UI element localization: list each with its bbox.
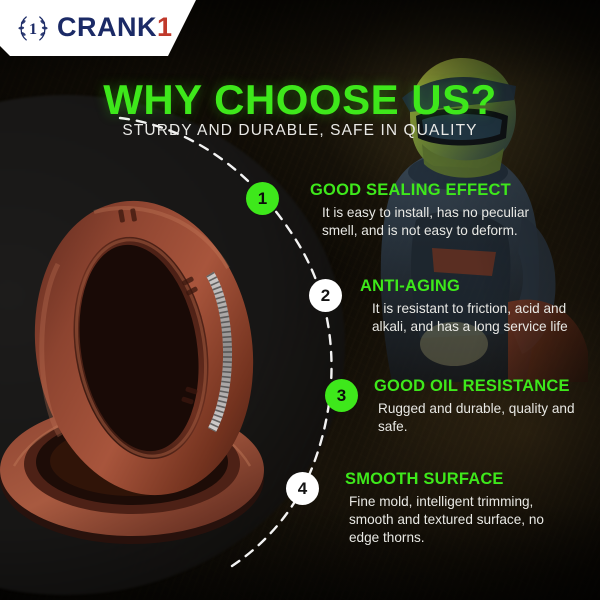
brand-logo-banner[interactable]: 1 CRANK1: [0, 0, 196, 56]
feature-number-4: 4: [298, 480, 307, 497]
page-title: WHY CHOOSE US?: [0, 76, 600, 124]
feature-body-3: Rugged and durable, quality and safe.: [374, 400, 589, 436]
brand-wordmark: CRANK1: [57, 14, 173, 41]
feature-badge-1: 1: [246, 182, 279, 215]
brand-name-main: CRANK: [57, 12, 157, 42]
feature-title-4: SMOOTH SURFACE: [345, 470, 575, 488]
brand-name-accent: 1: [157, 12, 173, 42]
feature-item-3: GOOD OIL RESISTANCE Rugged and durable, …: [374, 377, 589, 436]
laurel-wreath-icon: 1: [16, 11, 50, 45]
feature-title-1: GOOD SEALING EFFECT: [310, 181, 550, 199]
oil-seal-product-image: [0, 178, 286, 560]
feature-badge-3: 3: [325, 379, 358, 412]
feature-item-2: ANTI-AGING It is resistant to friction, …: [360, 277, 585, 336]
page-subtitle: STURDY AND DURABLE, SAFE IN QUALITY: [0, 122, 600, 140]
promo-infographic: 1 CRANK1 WHY CHOOSE US? STURDY AND DURAB…: [0, 0, 600, 600]
feature-title-3: GOOD OIL RESISTANCE: [374, 377, 589, 395]
feature-body-1: It is easy to install, has no peculiar s…: [310, 204, 550, 240]
feature-body-4: Fine mold, intelligent trimming, smooth …: [345, 493, 575, 547]
feature-number-2: 2: [321, 287, 330, 304]
feature-item-4: SMOOTH SURFACE Fine mold, intelligent tr…: [345, 470, 575, 547]
svg-text:1: 1: [29, 21, 37, 38]
feature-body-2: It is resistant to friction, acid and al…: [360, 300, 585, 336]
feature-badge-2: 2: [309, 279, 342, 312]
feature-title-2: ANTI-AGING: [360, 277, 585, 295]
feature-item-1: GOOD SEALING EFFECT It is easy to instal…: [310, 181, 550, 240]
feature-badge-4: 4: [286, 472, 319, 505]
feature-number-1: 1: [258, 190, 267, 207]
feature-number-3: 3: [337, 387, 346, 404]
